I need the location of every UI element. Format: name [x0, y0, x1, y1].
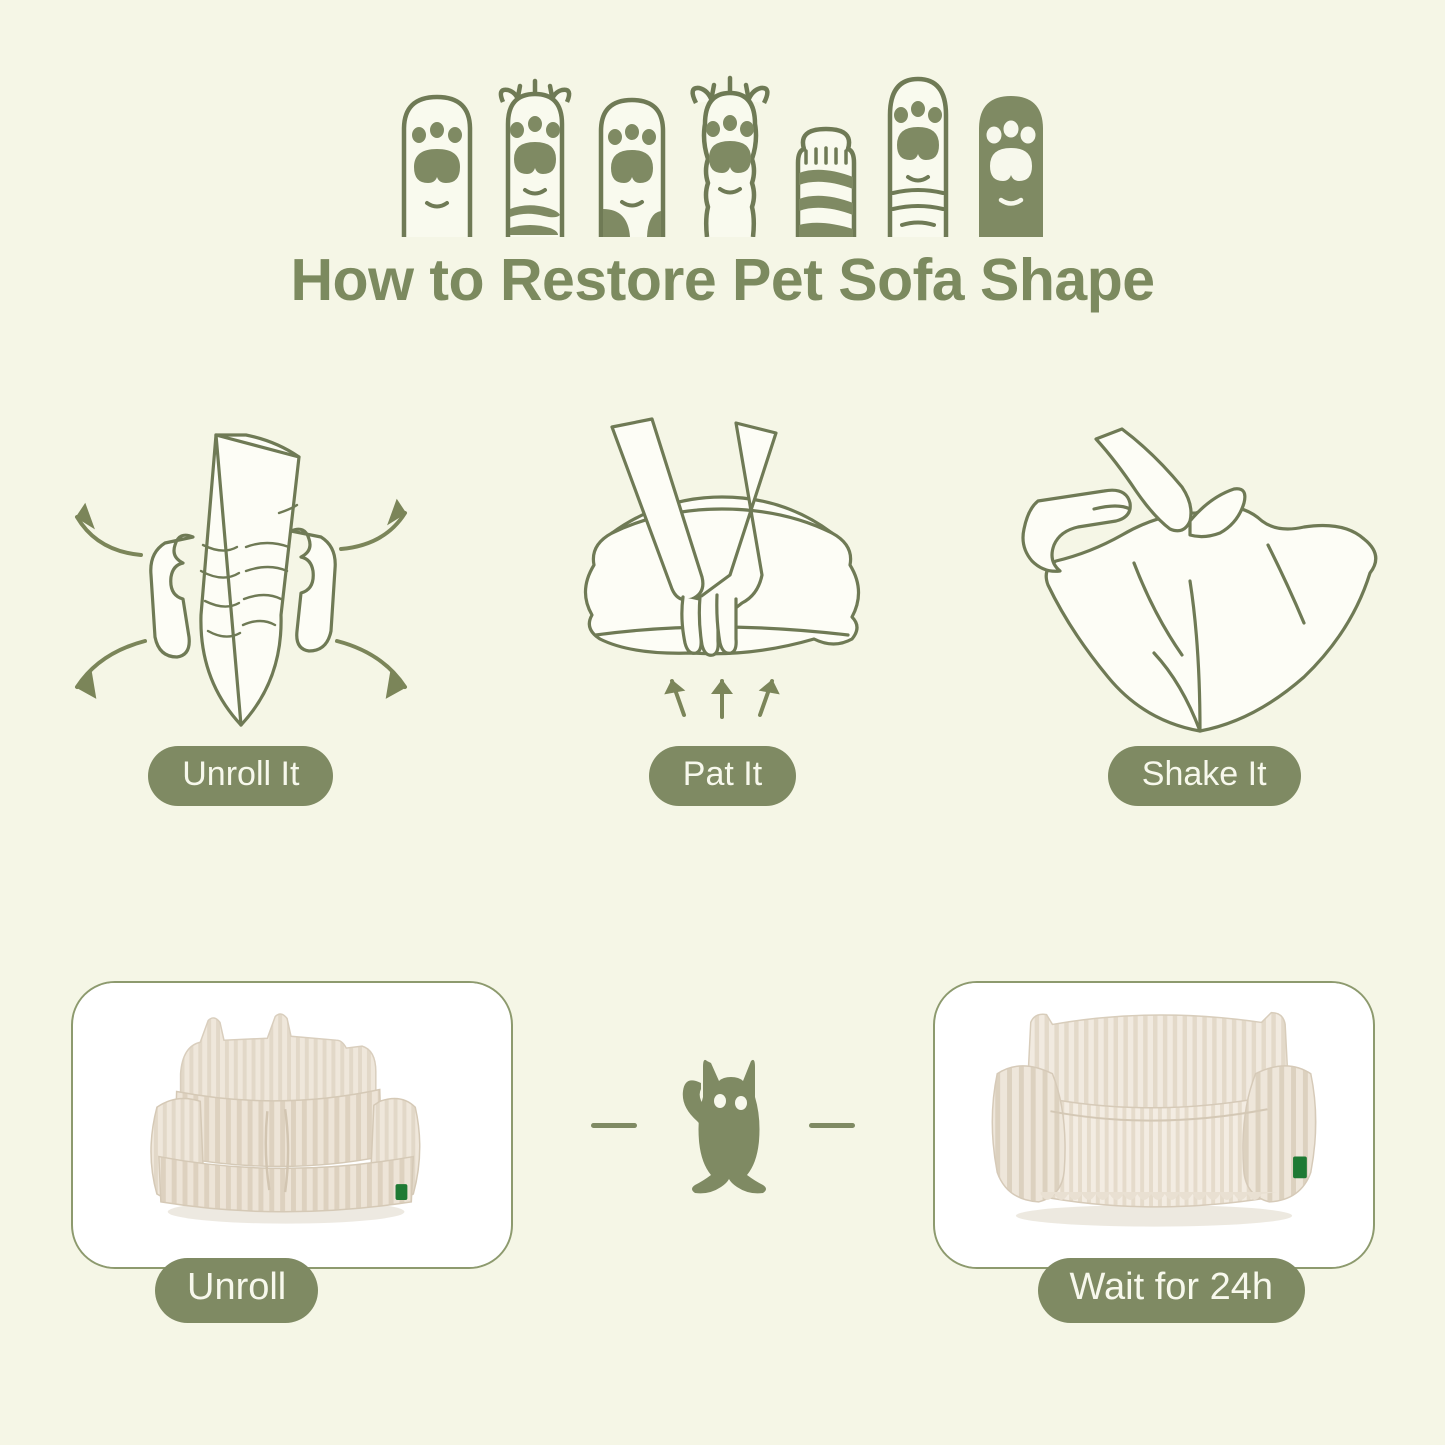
infographic-page: How to Restore Pet Sofa Shape — [0, 0, 1445, 1445]
paw-outline-stripes-icon — [486, 72, 584, 237]
divider-with-cat — [513, 981, 933, 1269]
compressed-pet-bed-photo — [71, 981, 513, 1269]
divider-dash-left — [591, 1123, 637, 1128]
compare-label-wait-24h: Wait for 24h — [1038, 1258, 1305, 1323]
paw-outline-spots-icon — [590, 89, 674, 237]
label-wrap-unroll: Unroll — [155, 1258, 318, 1323]
steps-row: Unroll It — [0, 400, 1445, 840]
restored-pet-sofa-photo — [933, 981, 1375, 1269]
paw-solid-filled-icon — [970, 87, 1052, 237]
divider-dash-right — [809, 1123, 855, 1128]
step-unroll: Unroll It — [26, 400, 456, 806]
page-title: How to Restore Pet Sofa Shape — [0, 248, 1445, 313]
label-wrap-wait: Wait for 24h — [1038, 1258, 1305, 1323]
paw-outline-tabby-icon — [872, 67, 964, 237]
step-shake: Shake It — [989, 400, 1419, 806]
sitting-cat-silhouette-icon — [663, 1045, 783, 1205]
step-label-unroll-it: Unroll It — [148, 746, 333, 806]
hands-shaking-bed-icon — [1004, 400, 1404, 740]
paw-outline-fuzzy-icon — [680, 69, 780, 237]
paw-outline-zigzag-icon — [786, 107, 866, 237]
paw-outline-plain-icon — [394, 87, 480, 237]
cat-paw-decoration-row — [0, 62, 1445, 237]
before-after-labels: Unroll Wait for 24h — [0, 1258, 1445, 1328]
before-after-row — [0, 960, 1445, 1290]
step-label-pat-it: Pat It — [649, 746, 796, 806]
hands-patting-bed-icon — [552, 400, 892, 740]
step-label-shake-it: Shake It — [1108, 746, 1301, 806]
step-pat: Pat It — [507, 400, 937, 806]
hands-unrolling-bed-icon — [41, 400, 441, 740]
compare-label-unroll: Unroll — [155, 1258, 318, 1323]
